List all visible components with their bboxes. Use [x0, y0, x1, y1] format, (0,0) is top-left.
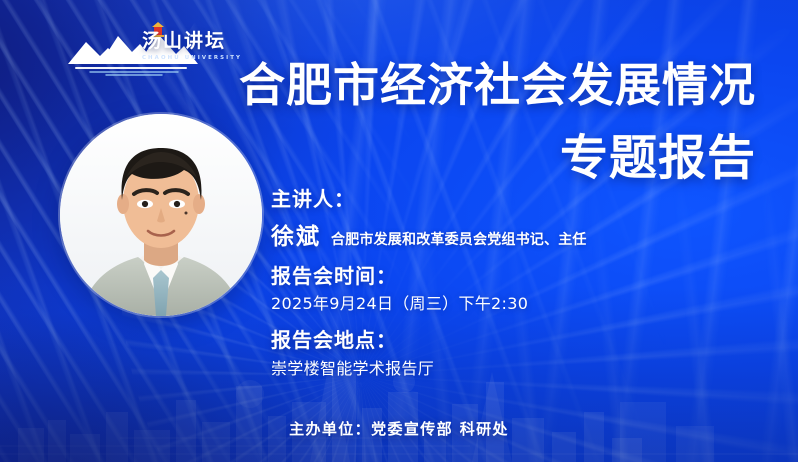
lecture-poster: 汤山讲坛 CHAOHU UNIVERSITY [0, 0, 798, 462]
time-value: 2025年9月24日（周三）下午2:30 [271, 294, 691, 315]
speaker-name: 徐斌 [271, 217, 321, 251]
poster-title-line-1: 合肥市经济社会发展情况 [239, 62, 756, 108]
organizer-line: 主办单位：党委宣传部 科研处 [0, 418, 798, 439]
poster-title-line-2: 专题报告 [560, 134, 756, 182]
portrait-photo-icon [60, 114, 262, 316]
event-info-block: 主讲人： 徐斌 合肥市发展和改革委员会党组书记、主任 报告会时间： 2025年9… [271, 188, 691, 379]
speaker-row: 徐斌 合肥市发展和改革委员会党组书记、主任 [271, 217, 691, 251]
speaker-label: 主讲人： [271, 188, 691, 212]
speaker-title: 合肥市发展和改革委员会党组书记、主任 [331, 229, 587, 249]
logo-name-cn: 汤山讲坛 [142, 32, 242, 51]
time-label: 报告会时间： [271, 265, 691, 289]
place-value: 崇学楼智能学术报告厅 [271, 359, 691, 380]
logo-name-en: CHAOHU UNIVERSITY [142, 55, 242, 61]
place-label: 报告会地点： [271, 329, 691, 353]
speaker-portrait [60, 114, 262, 316]
logo: 汤山讲坛 CHAOHU UNIVERSITY [66, 22, 232, 76]
